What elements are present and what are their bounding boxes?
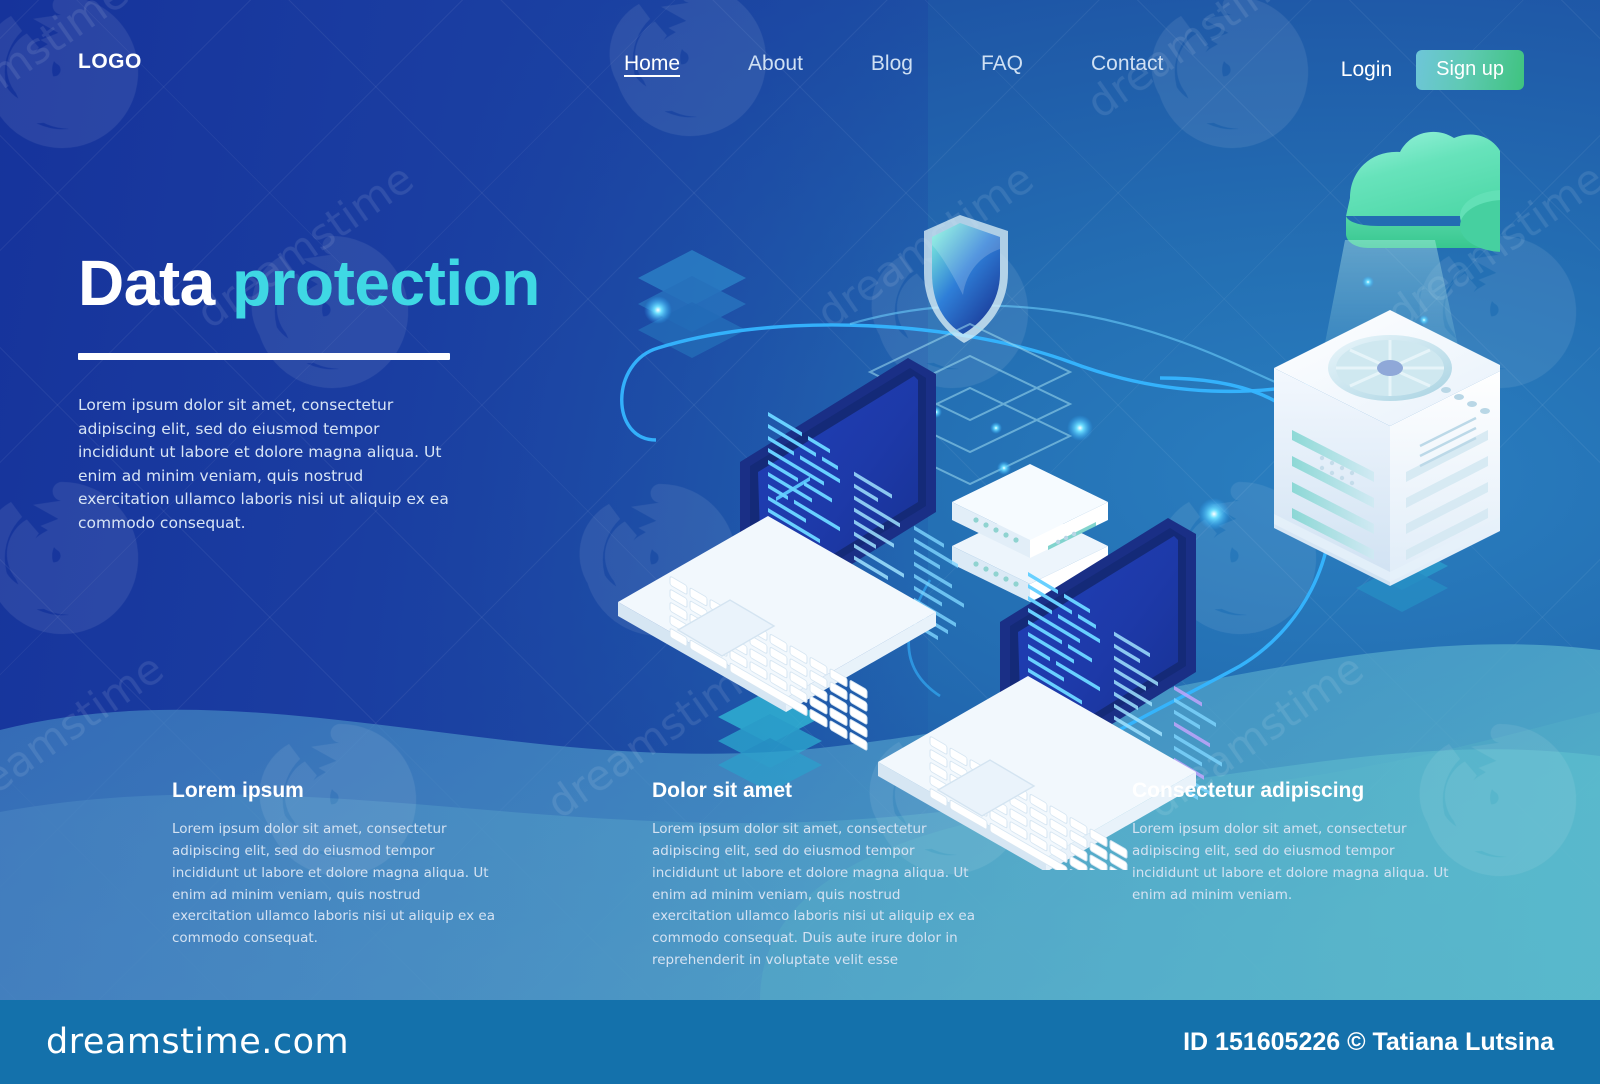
feature-body: Lorem ipsum dolor sit amet, consectetur …	[652, 819, 982, 972]
feature-card-3: Consectetur adipiscing Lorem ipsum dolor…	[960, 779, 1440, 972]
page-title-primary: Data	[78, 247, 215, 319]
dreamstime-wordmark[interactable]: dreamstime.com	[46, 1022, 349, 1062]
laptop-left	[618, 358, 964, 751]
dreamstime-wordmark-text: dreamstime.com	[46, 1022, 349, 1062]
feature-title: Dolor sit amet	[652, 779, 960, 803]
brand-logo[interactable]: LOGO	[78, 50, 142, 74]
image-credit: ID 151605226 © Tatiana Lutsina	[1183, 1028, 1554, 1057]
main-navigation: Home About Blog FAQ Contact	[590, 52, 1197, 76]
nav-item-blog[interactable]: Blog	[837, 52, 947, 76]
login-link[interactable]: Login	[1341, 58, 1392, 82]
isometric-illustration	[600, 110, 1500, 860]
feature-card-2: Dolor sit amet Lorem ipsum dolor sit ame…	[480, 779, 960, 972]
glow-node	[1067, 415, 1093, 441]
feature-body: Lorem ipsum dolor sit amet, consectetur …	[172, 819, 502, 950]
shield-icon	[924, 215, 1008, 343]
landing-page-canvas: dreamstime dreamstime dreamstime dreamst…	[0, 0, 1600, 1084]
feature-card-1: Lorem ipsum Lorem ipsum dolor sit amet, …	[0, 779, 480, 972]
feature-body: Lorem ipsum dolor sit amet, consectetur …	[1132, 819, 1462, 906]
title-underline-rule	[78, 353, 450, 360]
auth-actions: Login Sign up	[1341, 50, 1524, 90]
cloud-icon	[1346, 132, 1500, 252]
feature-title: Lorem ipsum	[172, 779, 480, 803]
server-tower	[1274, 310, 1500, 586]
glow-node	[644, 296, 672, 324]
stock-footer-bar: dreamstime.com ID 151605226 © Tatiana Lu…	[0, 1000, 1600, 1084]
nav-item-faq[interactable]: FAQ	[947, 52, 1057, 76]
page-title-accent: protection	[232, 247, 540, 319]
nav-item-about[interactable]: About	[714, 52, 837, 76]
hero-section: Data protection Lorem ipsum dolor sit am…	[78, 250, 618, 535]
feature-title: Consectetur adipiscing	[1132, 779, 1440, 803]
site-header: LOGO Home About Blog FAQ Contact Login S…	[0, 0, 1600, 112]
hero-description: Lorem ipsum dolor sit amet, consectetur …	[78, 394, 456, 535]
feature-columns: Lorem ipsum Lorem ipsum dolor sit amet, …	[0, 779, 1600, 972]
glow-node	[1198, 498, 1230, 530]
nav-item-contact[interactable]: Contact	[1057, 52, 1197, 76]
nav-item-home[interactable]: Home	[590, 52, 714, 76]
signup-button[interactable]: Sign up	[1416, 50, 1524, 90]
page-title: Data protection	[78, 250, 618, 317]
